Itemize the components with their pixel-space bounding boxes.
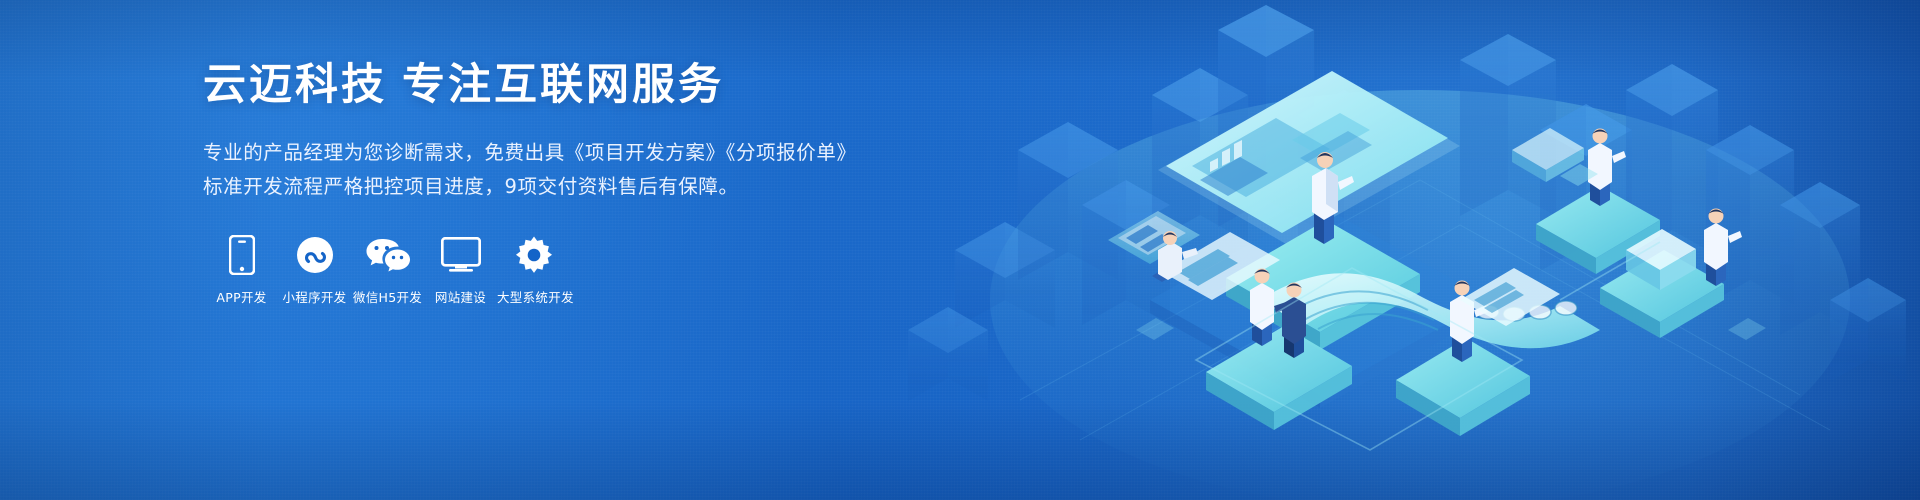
service-label: 小程序开发	[278, 287, 351, 306]
service-item-wechat[interactable]: 微信H5开发	[351, 234, 424, 306]
service-label: 大型系统开发	[497, 287, 570, 306]
wechat-icon	[351, 234, 424, 276]
mobile-phone-icon	[205, 234, 278, 276]
service-item-system[interactable]: 大型系统开发	[497, 234, 570, 306]
banner-copy: 云迈科技 专注互联网服务 专业的产品经理为您诊断需求，免费出具《项目开发方案》《…	[203, 62, 903, 306]
page-title: 云迈科技 专注互联网服务	[203, 62, 903, 109]
monitor-icon	[424, 234, 497, 276]
service-item-app[interactable]: APP开发	[205, 234, 278, 306]
mini-program-icon	[278, 234, 351, 276]
subtitle-line-1: 专业的产品经理为您诊断需求，免费出具《项目开发方案》《分项报价单》	[203, 136, 903, 170]
service-label: 网站建设	[424, 287, 497, 306]
service-item-website[interactable]: 网站建设	[424, 234, 497, 306]
hero-banner: 云迈科技 专注互联网服务 专业的产品经理为您诊断需求，免费出具《项目开发方案》《…	[0, 0, 1920, 500]
service-list: APP开发 小程序开发	[205, 234, 903, 306]
subtitle-block: 专业的产品经理为您诊断需求，免费出具《项目开发方案》《分项报价单》 标准开发流程…	[203, 136, 903, 204]
isometric-illustration	[900, 0, 1920, 500]
subtitle-line-2: 标准开发流程严格把控项目进度，9项交付资料售后有保障。	[203, 170, 903, 204]
service-item-miniprogram[interactable]: 小程序开发	[278, 234, 351, 306]
service-label: APP开发	[205, 287, 278, 306]
gear-icon	[497, 234, 570, 276]
service-label: 微信H5开发	[351, 287, 424, 306]
